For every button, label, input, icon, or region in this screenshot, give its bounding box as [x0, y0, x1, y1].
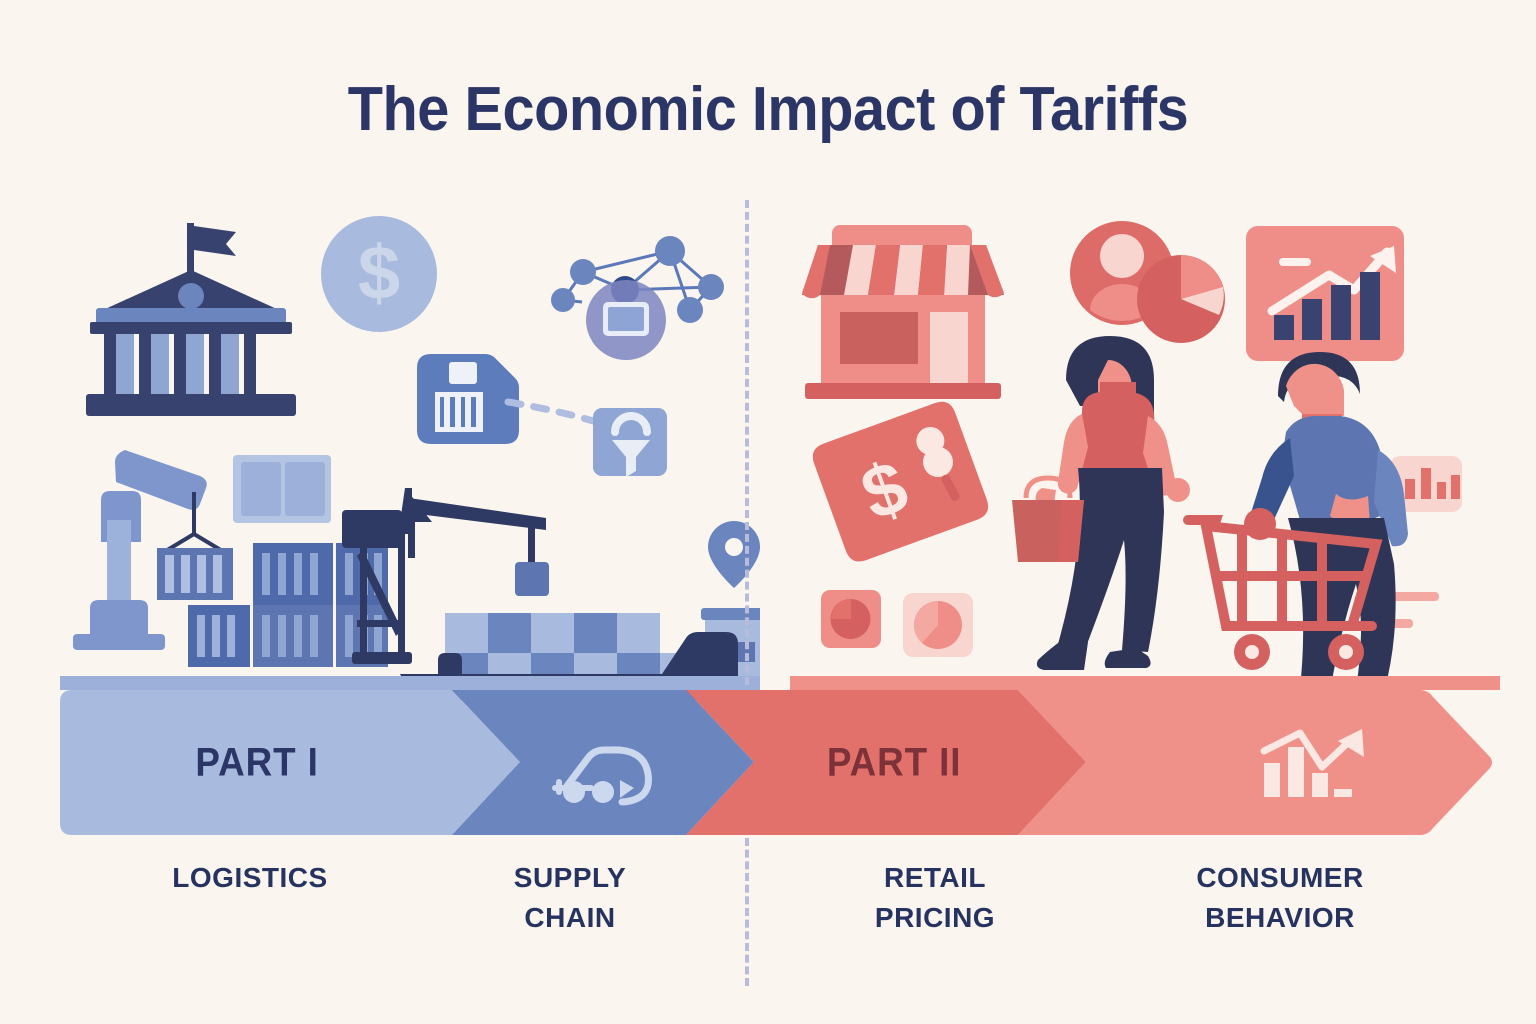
shopping-cart-wheels — [1234, 634, 1364, 670]
caption-retail-pricing-line2: PRICING — [790, 898, 1080, 938]
growth-chart-card — [1246, 226, 1404, 361]
storefront-icon — [802, 225, 1004, 399]
caption-retail-pricing: RETAIL PRICING — [790, 858, 1080, 938]
page-title: The Economic Impact of Tariffs — [54, 74, 1482, 145]
caption-retail-pricing-line1: RETAIL — [790, 858, 1080, 898]
banner-segment-part-1-label[interactable]: PART I — [60, 690, 520, 835]
part-1-label: PART I — [195, 740, 318, 785]
infographic-canvas: The Economic Impact of Tariffs — [0, 0, 1536, 1024]
right-ground-line — [790, 676, 1500, 690]
mini-pie-card-a — [821, 590, 881, 648]
caption-consumer-behavior-line1: CONSUMER — [1110, 858, 1450, 898]
panel-divider-top — [745, 200, 753, 685]
truck-cycle-icon — [548, 720, 664, 806]
part-2-label: PART II — [827, 740, 962, 785]
caption-supply-chain-line2: CHAIN — [420, 898, 720, 938]
caption-logistics: LOGISTICS — [90, 858, 410, 898]
waterline — [60, 676, 760, 690]
right-panel-illustrations: $ — [790, 200, 1500, 700]
parts-banner: PART I PART II — [60, 690, 1496, 835]
caption-consumer-behavior: CONSUMER BEHAVIOR — [1110, 858, 1450, 938]
shopper-woman-figure — [1012, 336, 1190, 670]
caption-logistics-line1: LOGISTICS — [90, 858, 410, 898]
caption-supply-chain: SUPPLY CHAIN — [420, 858, 720, 938]
caption-supply-chain-line1: SUPPLY — [420, 858, 720, 898]
shopper-man-figure — [1244, 352, 1408, 692]
mini-pie-card-b — [903, 593, 973, 657]
panel-divider-bottom — [745, 838, 753, 986]
banner-segment-part-2-icon[interactable] — [1018, 690, 1496, 835]
caption-consumer-behavior-line2: BEHAVIOR — [1110, 898, 1450, 938]
pie-chart-icon — [1137, 255, 1225, 343]
chart-growth-icon — [1258, 721, 1376, 805]
price-tag-dollar-icon: $ — [809, 398, 992, 566]
cargo-ship-icon — [60, 200, 760, 700]
